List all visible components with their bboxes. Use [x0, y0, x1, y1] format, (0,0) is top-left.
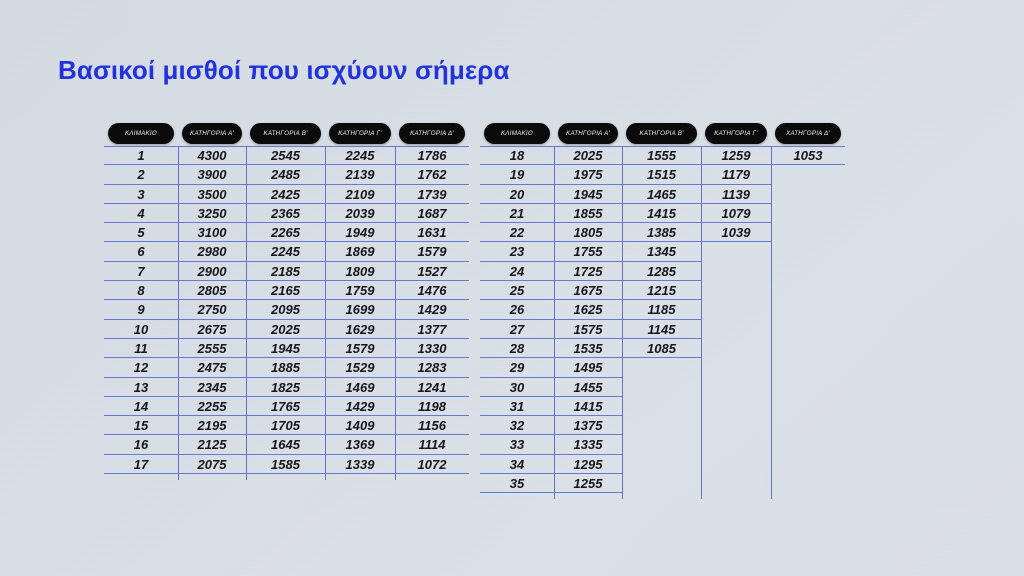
cell-value: [701, 455, 771, 474]
cell-value: 1375: [554, 416, 622, 435]
cell-value: 1465: [622, 185, 701, 204]
cell-value: [771, 262, 845, 281]
cell-value: 1869: [325, 242, 395, 261]
cell-value: [622, 397, 701, 416]
table-row: 2616251185: [480, 300, 845, 319]
table-row: 92750209516991429: [104, 300, 469, 319]
cell-value: 1335: [554, 435, 622, 454]
cell-value: 3100: [178, 223, 246, 242]
table-row: 62980224518691579: [104, 242, 469, 261]
cell-value: 1687: [395, 204, 469, 223]
column-divider-1: [246, 146, 247, 480]
cell-value: [701, 397, 771, 416]
slide-canvas: Βασικοί μισθοί που ισχύουν σήμερα ΚΛΙΜΑΚ…: [0, 0, 1024, 576]
cell-value: [771, 397, 845, 416]
table-right-body: 1820251555125910531919751515117920194514…: [480, 146, 845, 499]
cell-klimakio: 3: [104, 185, 178, 204]
cell-value: 1975: [554, 165, 622, 184]
cell-value: 2095: [246, 300, 325, 319]
cell-klimakio: 1: [104, 146, 178, 165]
table-right-header-0: ΚΛΙΜΑΚΙΟ: [484, 123, 550, 144]
cell-value: [771, 281, 845, 300]
cell-klimakio: 28: [480, 339, 554, 358]
cell-klimakio: 4: [104, 204, 178, 223]
cell-klimakio: 30: [480, 378, 554, 397]
table-right-header-1: ΚΑΤΗΓΟΡΙΑ Α': [558, 123, 618, 144]
cell-klimakio: 8: [104, 281, 178, 300]
cell-value: 2195: [178, 416, 246, 435]
cell-value: 1345: [622, 242, 701, 261]
table-left-header-2: ΚΑΤΗΓΟΡΙΑ Β': [250, 123, 321, 144]
cell-value: [701, 416, 771, 435]
table-row: 331335: [480, 435, 845, 454]
cell-value: 2345: [178, 378, 246, 397]
cell-value: 1295: [554, 455, 622, 474]
cell-klimakio: 24: [480, 262, 554, 281]
table-row: 351255: [480, 474, 845, 493]
cell-value: 1645: [246, 435, 325, 454]
cell-value: 2365: [246, 204, 325, 223]
cell-value: [701, 358, 771, 377]
table-row: 33500242521091739: [104, 185, 469, 204]
cell-value: 1369: [325, 435, 395, 454]
cell-value: 1515: [622, 165, 701, 184]
cell-value: 1579: [325, 339, 395, 358]
cell-klimakio: 32: [480, 416, 554, 435]
cell-value: 1759: [325, 281, 395, 300]
column-divider-0: [554, 146, 555, 499]
table-row: 20194514651139: [480, 185, 845, 204]
cell-value: [701, 242, 771, 261]
column-divider-2: [701, 146, 702, 499]
cell-value: 2485: [246, 165, 325, 184]
cell-klimakio: 29: [480, 358, 554, 377]
table-row: 182025155512591053: [480, 146, 845, 165]
cell-value: [771, 339, 845, 358]
cell-value: [622, 474, 701, 493]
cell-klimakio: 31: [480, 397, 554, 416]
cell-klimakio: 34: [480, 455, 554, 474]
table-left-header-row: ΚΛΙΜΑΚΙΟΚΑΤΗΓΟΡΙΑ Α'ΚΑΤΗΓΟΡΙΑ Β'ΚΑΤΗΓΟΡΙ…: [104, 122, 469, 146]
cell-value: 1139: [701, 185, 771, 204]
salary-table-right: ΚΛΙΜΑΚΙΟΚΑΤΗΓΟΡΙΑ Α'ΚΑΤΗΓΟΡΙΑ Β'ΚΑΤΗΓΟΡΙ…: [480, 122, 845, 499]
cell-value: 1529: [325, 358, 395, 377]
cell-klimakio: 16: [104, 435, 178, 454]
cell-value: 1114: [395, 435, 469, 454]
cell-value: 3500: [178, 185, 246, 204]
column-divider-2: [325, 146, 326, 480]
table-row: 112555194515791330: [104, 339, 469, 358]
table-row: 162125164513691114: [104, 435, 469, 454]
table-row: 72900218518091527: [104, 262, 469, 281]
cell-value: 2165: [246, 281, 325, 300]
cell-value: [622, 416, 701, 435]
cell-klimakio: 15: [104, 416, 178, 435]
cell-value: 1469: [325, 378, 395, 397]
table-row: 142255176514291198: [104, 397, 469, 416]
cell-value: 2255: [178, 397, 246, 416]
cell-value: 1283: [395, 358, 469, 377]
cell-value: [771, 416, 845, 435]
cell-value: [622, 455, 701, 474]
table-right-header-row: ΚΛΙΜΑΚΙΟΚΑΤΗΓΟΡΙΑ Α'ΚΑΤΗΓΟΡΙΑ Β'ΚΑΤΗΓΟΡΙ…: [480, 122, 845, 146]
cell-value: [771, 320, 845, 339]
cell-value: 2475: [178, 358, 246, 377]
cell-value: 2555: [178, 339, 246, 358]
table-row: 21185514151079: [480, 204, 845, 223]
cell-value: 1629: [325, 320, 395, 339]
cell-value: [771, 378, 845, 397]
cell-value: [701, 262, 771, 281]
cell-value: [771, 242, 845, 261]
cell-value: [771, 300, 845, 319]
table-left-header-4: ΚΑΤΗΓΟΡΙΑ Δ': [399, 123, 465, 144]
cell-value: 1945: [246, 339, 325, 358]
cell-value: 2265: [246, 223, 325, 242]
cell-value: 1053: [771, 146, 845, 165]
column-divider-3: [395, 146, 396, 480]
cell-value: 1945: [554, 185, 622, 204]
cell-klimakio: 2: [104, 165, 178, 184]
cell-value: 1429: [395, 300, 469, 319]
cell-value: [622, 378, 701, 397]
table-row: 19197515151179: [480, 165, 845, 184]
cell-value: 1625: [554, 300, 622, 319]
table-row: 2715751145: [480, 320, 845, 339]
cell-value: 2675: [178, 320, 246, 339]
cell-value: 1241: [395, 378, 469, 397]
cell-value: [701, 300, 771, 319]
cell-value: 2545: [246, 146, 325, 165]
cell-value: 2805: [178, 281, 246, 300]
cell-value: 1699: [325, 300, 395, 319]
cell-value: [622, 358, 701, 377]
cell-value: 1527: [395, 262, 469, 281]
cell-klimakio: 21: [480, 204, 554, 223]
cell-klimakio: 17: [104, 455, 178, 474]
cell-value: 1039: [701, 223, 771, 242]
cell-value: 3900: [178, 165, 246, 184]
cell-value: 1739: [395, 185, 469, 204]
cell-value: 2750: [178, 300, 246, 319]
table-row: 14300254522451786: [104, 146, 469, 165]
cell-klimakio: 11: [104, 339, 178, 358]
cell-value: [771, 358, 845, 377]
cell-value: 1330: [395, 339, 469, 358]
cell-value: 1156: [395, 416, 469, 435]
column-divider-0: [178, 146, 179, 480]
cell-value: 2109: [325, 185, 395, 204]
cell-value: [771, 474, 845, 493]
cell-value: 1385: [622, 223, 701, 242]
cell-klimakio: 9: [104, 300, 178, 319]
cell-value: [701, 378, 771, 397]
cell-value: 2039: [325, 204, 395, 223]
cell-value: [771, 455, 845, 474]
table-row: 321375: [480, 416, 845, 435]
cell-klimakio: 5: [104, 223, 178, 242]
cell-value: 2185: [246, 262, 325, 281]
cell-klimakio: 35: [480, 474, 554, 493]
table-row: 291495: [480, 358, 845, 377]
cell-value: 1705: [246, 416, 325, 435]
table-right-header-4: ΧΑΤΗΓΟΡΙΑ Δ': [775, 123, 841, 144]
cell-value: 1339: [325, 455, 395, 474]
table-row: 53100226519491631: [104, 223, 469, 242]
cell-value: 1145: [622, 320, 701, 339]
cell-value: 1185: [622, 300, 701, 319]
cell-value: 1215: [622, 281, 701, 300]
cell-value: 1259: [701, 146, 771, 165]
cell-value: 1809: [325, 262, 395, 281]
cell-klimakio: 25: [480, 281, 554, 300]
table-row: 23900248521391762: [104, 165, 469, 184]
cell-value: 1885: [246, 358, 325, 377]
table-row: 311415: [480, 397, 845, 416]
column-divider-1: [622, 146, 623, 499]
cell-value: 1495: [554, 358, 622, 377]
table-row: 2516751215: [480, 281, 845, 300]
cell-klimakio: 23: [480, 242, 554, 261]
cell-value: 1415: [622, 204, 701, 223]
cell-klimakio: 18: [480, 146, 554, 165]
cell-klimakio: 33: [480, 435, 554, 454]
cell-value: 1198: [395, 397, 469, 416]
cell-value: 1855: [554, 204, 622, 223]
cell-value: 2245: [246, 242, 325, 261]
cell-klimakio: 20: [480, 185, 554, 204]
cell-value: 1455: [554, 378, 622, 397]
cell-klimakio: 12: [104, 358, 178, 377]
cell-value: [771, 185, 845, 204]
table-right-header-3: ΚΑΤΗΓΟΡΙΑ Γ': [705, 123, 767, 144]
table-row: 2317551345: [480, 242, 845, 261]
cell-value: [701, 474, 771, 493]
cell-value: 1535: [554, 339, 622, 358]
table-row: 43250236520391687: [104, 204, 469, 223]
cell-value: [701, 435, 771, 454]
cell-value: 1255: [554, 474, 622, 493]
cell-klimakio: 6: [104, 242, 178, 261]
table-row: 2417251285: [480, 262, 845, 281]
cell-value: 1755: [554, 242, 622, 261]
cell-value: [622, 435, 701, 454]
cell-klimakio: 27: [480, 320, 554, 339]
cell-klimakio: 22: [480, 223, 554, 242]
cell-value: 1631: [395, 223, 469, 242]
salary-table-left: ΚΛΙΜΑΚΙΟΚΑΤΗΓΟΡΙΑ Α'ΚΑΤΗΓΟΡΙΑ Β'ΚΑΤΗΓΟΡΙ…: [104, 122, 469, 480]
cell-value: 1179: [701, 165, 771, 184]
cell-value: 1285: [622, 262, 701, 281]
cell-value: 1579: [395, 242, 469, 261]
cell-klimakio: 10: [104, 320, 178, 339]
table-row: 2815351085: [480, 339, 845, 358]
table-right-header-2: ΚΑΤΗΓΟΡΙΑ Β': [626, 123, 697, 144]
table-row: 341295: [480, 455, 845, 474]
cell-klimakio: 7: [104, 262, 178, 281]
cell-klimakio: 13: [104, 378, 178, 397]
cell-value: 2425: [246, 185, 325, 204]
cell-value: 1072: [395, 455, 469, 474]
cell-value: [771, 204, 845, 223]
cell-value: 2980: [178, 242, 246, 261]
table-left-header-3: ΚΑΤΗΓΟΡΙΑ Γ': [329, 123, 391, 144]
cell-value: 1786: [395, 146, 469, 165]
cell-value: 1765: [246, 397, 325, 416]
page-title: Βασικοί μισθοί που ισχύουν σήμερα: [58, 55, 510, 86]
cell-value: 1805: [554, 223, 622, 242]
cell-value: [701, 339, 771, 358]
cell-value: 1079: [701, 204, 771, 223]
cell-value: 2075: [178, 455, 246, 474]
cell-value: 1429: [325, 397, 395, 416]
table-left-header-1: ΚΑΤΗΓΟΡΙΑ Α': [182, 123, 242, 144]
cell-value: 1585: [246, 455, 325, 474]
table-row: 122475188515291283: [104, 358, 469, 377]
cell-value: 2025: [246, 320, 325, 339]
cell-value: 1555: [622, 146, 701, 165]
cell-value: 1675: [554, 281, 622, 300]
table-left-header-0: ΚΛΙΜΑΚΙΟ: [108, 123, 174, 144]
table-row: 172075158513391072: [104, 455, 469, 474]
cell-value: 1825: [246, 378, 325, 397]
cell-value: [701, 320, 771, 339]
cell-value: 1476: [395, 281, 469, 300]
cell-value: 1762: [395, 165, 469, 184]
cell-value: [771, 165, 845, 184]
cell-value: 2125: [178, 435, 246, 454]
cell-value: [771, 435, 845, 454]
table-row: 102675202516291377: [104, 320, 469, 339]
cell-value: 1725: [554, 262, 622, 281]
cell-value: 4300: [178, 146, 246, 165]
table-row: 82805216517591476: [104, 281, 469, 300]
cell-klimakio: 14: [104, 397, 178, 416]
cell-value: [771, 223, 845, 242]
column-divider-3: [771, 146, 772, 499]
table-row: 152195170514091156: [104, 416, 469, 435]
cell-value: 1575: [554, 320, 622, 339]
table-left-body: 1430025452245178623900248521391762335002…: [104, 146, 469, 480]
cell-klimakio: 19: [480, 165, 554, 184]
cell-value: 2900: [178, 262, 246, 281]
cell-value: 1377: [395, 320, 469, 339]
table-row: 22180513851039: [480, 223, 845, 242]
cell-value: [701, 281, 771, 300]
cell-value: 1415: [554, 397, 622, 416]
cell-value: 1949: [325, 223, 395, 242]
cell-klimakio: 26: [480, 300, 554, 319]
cell-value: 2025: [554, 146, 622, 165]
cell-value: 3250: [178, 204, 246, 223]
cell-value: 2245: [325, 146, 395, 165]
cell-value: 2139: [325, 165, 395, 184]
table-row: 132345182514691241: [104, 378, 469, 397]
cell-value: 1085: [622, 339, 701, 358]
table-row: 301455: [480, 378, 845, 397]
cell-value: 1409: [325, 416, 395, 435]
